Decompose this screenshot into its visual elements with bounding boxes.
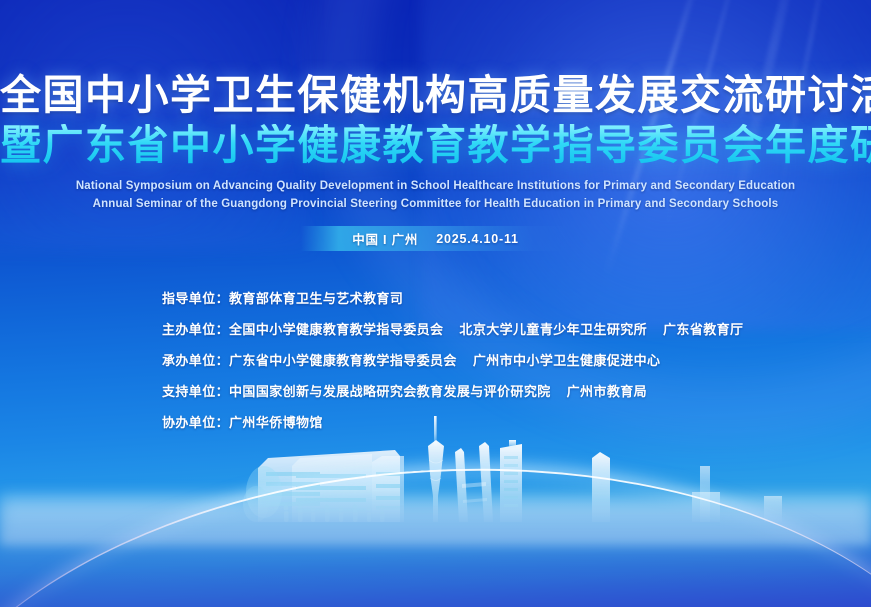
subtitle-line-2: Annual Seminar of the Guangdong Provinci… xyxy=(0,196,871,214)
title-block: 全国中小学卫生保健机构高质量发展交流研讨活动 暨广东省中小学健康教育教学指导委员… xyxy=(0,74,871,166)
organization-label: 指导单位： xyxy=(162,288,229,307)
organization-value: 广东省教育厅 xyxy=(663,319,743,338)
organization-label: 协办单位： xyxy=(162,412,229,431)
organization-row: 协办单位： 广州华侨博物馆 xyxy=(162,412,743,431)
organization-values: 中国国家创新与发展战略研究会教育发展与评价研究院 广州市教育局 xyxy=(229,381,647,400)
event-date: 2025.4.10-11 xyxy=(436,232,519,246)
organization-row: 指导单位： 教育部体育卫生与艺术教育司 xyxy=(162,288,743,307)
page-title-primary: 全国中小学卫生保健机构高质量发展交流研讨活动 xyxy=(0,74,871,117)
organization-label: 主办单位： xyxy=(162,319,229,338)
subtitle-line-1: National Symposium on Advancing Quality … xyxy=(0,178,871,196)
date-banner-wrapper: 中国 I 广州 2025.4.10-11 xyxy=(0,226,871,251)
organization-value: 广东省中小学健康教育教学指导委员会 xyxy=(229,350,457,369)
organization-value: 中国国家创新与发展战略研究会教育发展与评价研究院 xyxy=(229,381,551,400)
organization-value: 全国中小学健康教育教学指导委员会 xyxy=(229,319,443,338)
organization-row: 承办单位： 广东省中小学健康教育教学指导委员会 广州市中小学卫生健康促进中心 xyxy=(162,350,743,369)
organization-row: 主办单位： 全国中小学健康教育教学指导委员会 北京大学儿童青少年卫生研究所 广东… xyxy=(162,319,743,338)
organization-list: 指导单位： 教育部体育卫生与艺术教育司 主办单位： 全国中小学健康教育教学指导委… xyxy=(162,288,743,443)
organization-label: 支持单位： xyxy=(162,381,229,400)
event-meta-banner: 中国 I 广州 2025.4.10-11 xyxy=(301,226,571,251)
event-location: 中国 I 广州 xyxy=(352,229,418,248)
organization-values: 广州华侨博物馆 xyxy=(229,412,323,431)
page-title-secondary: 暨广东省中小学健康教育教学指导委员会年度研讨活动 xyxy=(0,124,871,167)
organization-value: 教育部体育卫生与艺术教育司 xyxy=(229,288,403,307)
organization-values: 全国中小学健康教育教学指导委员会 北京大学儿童青少年卫生研究所 广东省教育厅 xyxy=(229,319,743,338)
conference-poster: 全国中小学卫生保健机构高质量发展交流研讨活动 暨广东省中小学健康教育教学指导委员… xyxy=(0,0,871,607)
organization-values: 广东省中小学健康教育教学指导委员会 广州市中小学卫生健康促进中心 xyxy=(229,350,660,369)
organization-row: 支持单位： 中国国家创新与发展战略研究会教育发展与评价研究院 广州市教育局 xyxy=(162,381,743,400)
organization-value: 广州市教育局 xyxy=(567,381,647,400)
organization-label: 承办单位： xyxy=(162,350,229,369)
organization-value: 北京大学儿童青少年卫生研究所 xyxy=(459,319,647,338)
organization-value: 广州市中小学卫生健康促进中心 xyxy=(473,350,661,369)
organization-value: 广州华侨博物馆 xyxy=(229,412,323,431)
bottom-shade xyxy=(0,497,871,607)
organization-values: 教育部体育卫生与艺术教育司 xyxy=(229,288,403,307)
subtitle-block: National Symposium on Advancing Quality … xyxy=(0,178,871,214)
